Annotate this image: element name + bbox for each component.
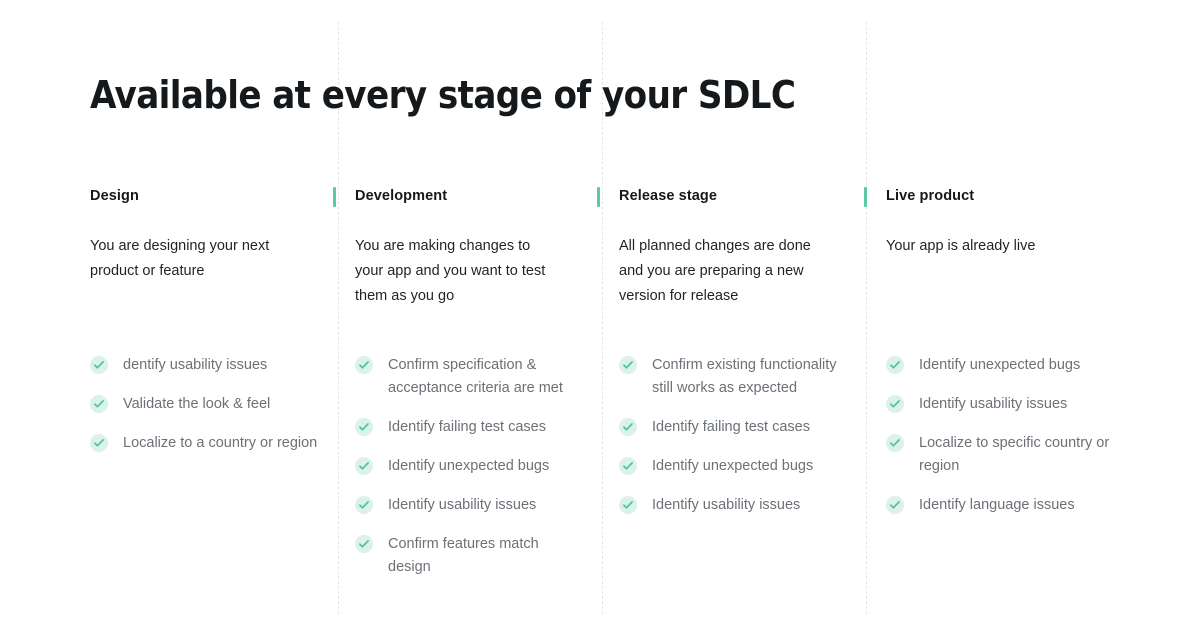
checklist-item-label: Identify unexpected bugs <box>652 458 813 474</box>
check-circle-icon <box>90 434 108 452</box>
checklist-item: dentify usability issues <box>90 354 320 377</box>
check-circle-icon <box>886 434 904 452</box>
stage-title: Development <box>355 186 577 206</box>
check-circle-icon <box>619 356 637 374</box>
checklist-item: Identify unexpected bugs <box>619 455 849 478</box>
checklist-item-label: Confirm specification & acceptance crite… <box>388 357 563 396</box>
checklist-item-label: Confirm existing functionality still wor… <box>652 357 837 396</box>
check-circle-icon <box>355 496 373 514</box>
stage-description: All planned changes are done and you are… <box>619 234 824 309</box>
checklist-item: Identify failing test cases <box>355 416 585 439</box>
check-circle-icon <box>886 356 904 374</box>
check-circle-icon <box>355 535 373 553</box>
stage-header: Design <box>90 186 312 212</box>
checklist-item: Identify usability issues <box>355 494 585 517</box>
checklist-item: Localize to a country or region <box>90 432 320 455</box>
stage-title: Release stage <box>619 186 841 206</box>
stage-checklist: Confirm existing functionality still wor… <box>619 354 849 533</box>
checklist-item: Confirm existing functionality still wor… <box>619 354 849 400</box>
stage-title: Live product <box>886 186 1108 206</box>
checklist-item: Confirm features match design <box>355 533 585 579</box>
check-circle-icon <box>90 395 108 413</box>
checklist-item-label: Identify usability issues <box>652 497 800 513</box>
checklist-item-label: Localize to a country or region <box>123 435 317 451</box>
stage-column-live-product: Live productYour app is already liveIden… <box>886 186 1108 274</box>
checklist-item: Identify language issues <box>886 494 1116 517</box>
check-circle-icon <box>355 457 373 475</box>
checklist-item-label: Confirm features match design <box>388 536 539 575</box>
checklist-item: Identify unexpected bugs <box>355 455 585 478</box>
check-circle-icon <box>619 457 637 475</box>
stage-column-design: DesignYou are designing your next produc… <box>90 186 312 299</box>
checklist-item-label: Identify failing test cases <box>388 419 546 435</box>
stage-header: Live product <box>886 186 1108 212</box>
checklist-item-label: Identify unexpected bugs <box>919 357 1080 373</box>
check-circle-icon <box>886 395 904 413</box>
checklist-item: Validate the look & feel <box>90 393 320 416</box>
check-circle-icon <box>619 418 637 436</box>
checklist-item: Identify unexpected bugs <box>886 354 1116 377</box>
check-circle-icon <box>886 496 904 514</box>
checklist-item: Localize to specific country or region <box>886 432 1116 478</box>
check-circle-icon <box>90 356 108 374</box>
check-circle-icon <box>355 418 373 436</box>
checklist-item: Identify usability issues <box>886 393 1116 416</box>
checklist-item-label: Localize to specific country or region <box>919 435 1109 474</box>
stage-checklist: Confirm specification & acceptance crite… <box>355 354 585 595</box>
stage-description: You are making changes to your app and y… <box>355 234 560 309</box>
page-title: Available at every stage of your SDLC <box>90 72 795 118</box>
checklist-item: Confirm specification & acceptance crite… <box>355 354 585 400</box>
checklist-item-label: Identify failing test cases <box>652 419 810 435</box>
stage-title: Design <box>90 186 312 206</box>
slide-canvas: Available at every stage of your SDLC De… <box>0 0 1200 630</box>
stage-description: Your app is already live <box>886 234 1091 259</box>
checklist-item-label: Validate the look & feel <box>123 396 270 412</box>
column-divider-3 <box>866 22 867 614</box>
checklist-item-label: Identify unexpected bugs <box>388 458 549 474</box>
checklist-item-label: dentify usability issues <box>123 357 267 373</box>
accent-bar <box>864 187 867 207</box>
stage-description: You are designing your next product or f… <box>90 234 295 284</box>
stage-header: Development <box>355 186 577 212</box>
check-circle-icon <box>355 356 373 374</box>
stage-column-release-stage: Release stageAll planned changes are don… <box>619 186 841 324</box>
check-circle-icon <box>619 496 637 514</box>
checklist-item-label: Identify language issues <box>919 497 1075 513</box>
checklist-item-label: Identify usability issues <box>919 396 1067 412</box>
stage-column-development: DevelopmentYou are making changes to you… <box>355 186 577 324</box>
stage-checklist: Identify unexpected bugsIdentify usabili… <box>886 354 1116 533</box>
stage-checklist: dentify usability issuesValidate the loo… <box>90 354 320 471</box>
checklist-item: Identify usability issues <box>619 494 849 517</box>
checklist-item-label: Identify usability issues <box>388 497 536 513</box>
accent-bar <box>597 187 600 207</box>
stage-header: Release stage <box>619 186 841 212</box>
checklist-item: Identify failing test cases <box>619 416 849 439</box>
accent-bar <box>333 187 336 207</box>
